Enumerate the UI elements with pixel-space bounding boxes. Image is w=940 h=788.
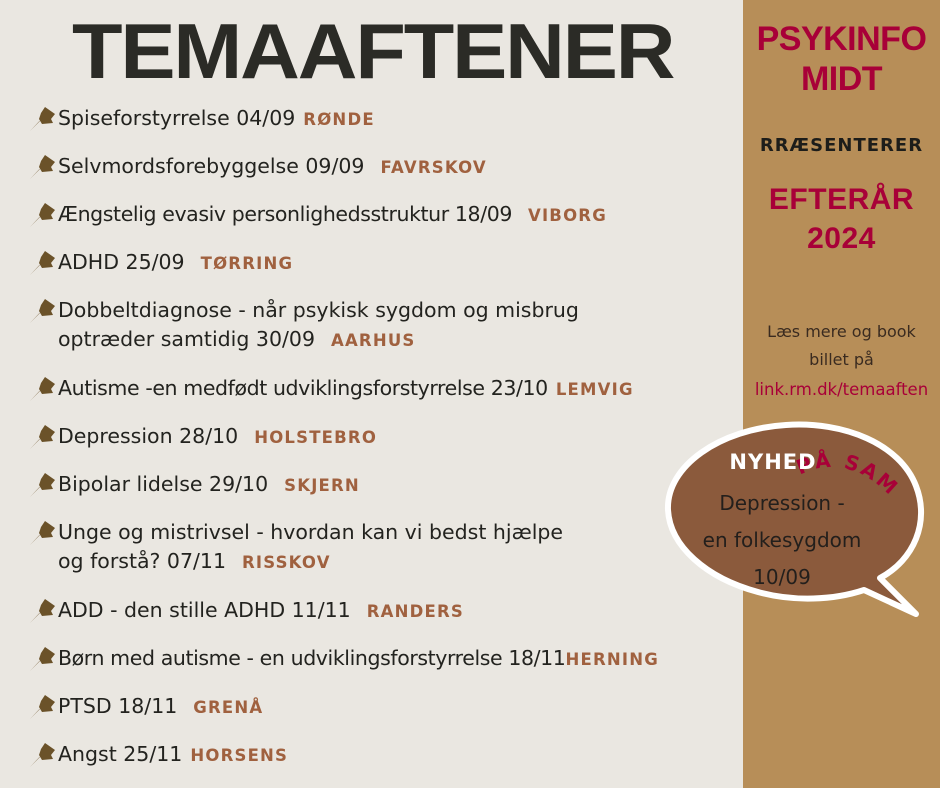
season-line-2: 2024 (743, 222, 940, 256)
event-title: Depression 28/10 (58, 424, 238, 448)
event-title: Autisme -en medfødt udviklingsforstyrrel… (58, 376, 548, 400)
event-title: Ængstelig evasiv personlighedsstruktur 1… (58, 202, 512, 226)
news-badge: NYHED (648, 450, 898, 474)
event-city: SKJERN (284, 476, 360, 495)
event-city: RISSKOV (242, 553, 331, 572)
event-title: ADD - den stille ADHD 11/11 (58, 598, 351, 622)
event-city: AARHUS (331, 331, 416, 350)
poster-root: PSYKINFO MIDT RRÆSENTERER EFTERÅR 2024 L… (0, 0, 940, 788)
brand-line-1: PSYKINFO (743, 22, 940, 56)
event-city: HOLSTEBRO (254, 428, 377, 447)
pushpin-icon (28, 424, 58, 450)
pushpin-icon (28, 250, 58, 276)
sidebar-panel: PSYKINFO MIDT RRÆSENTERER EFTERÅR 2024 L… (743, 0, 940, 788)
event-title: Dobbeltdiagnose - når psykisk sygdom og … (58, 298, 579, 322)
pushpin-icon (28, 520, 58, 546)
event-title: Børn med autisme - en udviklingsforstyrr… (58, 646, 565, 670)
event-title: Selvmordsforebyggelse 09/09 (58, 154, 364, 178)
event-city: GRENÅ (193, 698, 263, 717)
event-city: FAVRSKOV (380, 158, 486, 177)
list-item[interactable]: Selvmordsforebyggelse 09/09FAVRSKOV (28, 152, 487, 182)
event-title-line2: optræder samtidig 30/09 (58, 327, 315, 351)
event-city: TØRRING (201, 254, 294, 273)
pushpin-icon (28, 202, 58, 228)
event-title-line2: og forstå? 07/11 (58, 549, 226, 573)
list-item[interactable]: Unge og mistrivsel - hvordan kan vi beds… (28, 518, 563, 577)
pushpin-icon (28, 472, 58, 498)
pushpin-icon (28, 106, 58, 132)
list-item[interactable]: Børn med autisme - en udviklingsforstyrr… (28, 644, 659, 674)
list-item[interactable]: Spiseforstyrrelse 04/09RØNDE (28, 104, 375, 134)
event-city: HERNING (565, 650, 659, 669)
event-title: Unge og mistrivsel - hvordan kan vi beds… (58, 520, 563, 544)
list-item[interactable]: ADD - den stille ADHD 11/11RANDERS (28, 596, 464, 626)
event-title: Bipolar lidelse 29/10 (58, 472, 268, 496)
bubble-line-2: en folkesygdom (648, 528, 916, 552)
list-item[interactable]: Autisme -en medfødt udviklingsforstyrrel… (28, 374, 634, 404)
list-item[interactable]: Dobbeltdiagnose - når psykisk sygdom og … (28, 296, 579, 355)
booking-link[interactable]: link.rm.dk/temaaften (743, 380, 940, 399)
pushpin-icon (28, 742, 58, 768)
season-line-1: EFTERÅR (743, 183, 940, 217)
booking-info-line-2: billet på (749, 350, 934, 369)
pushpin-icon (28, 646, 58, 672)
pushpin-icon (28, 298, 58, 324)
list-item[interactable]: Ængstelig evasiv personlighedsstruktur 1… (28, 200, 607, 230)
presents-label: RRÆSENTERER (743, 135, 940, 156)
pushpin-icon (28, 598, 58, 624)
bubble-line-1: Depression - (648, 491, 916, 515)
event-city: LEMVIG (556, 380, 634, 399)
event-city: VIBORG (528, 206, 607, 225)
list-item[interactable]: Depression 28/10HOLSTEBRO (28, 422, 377, 452)
list-item[interactable]: Angst 25/11HORSENS (28, 740, 288, 770)
event-title: Spiseforstyrrelse 04/09 (58, 106, 295, 130)
list-item[interactable]: Bipolar lidelse 29/10SKJERN (28, 470, 360, 500)
page-title: TEMAAFTENER (72, 6, 673, 97)
list-item[interactable]: ADHD 25/09TØRRING (28, 248, 293, 278)
list-item[interactable]: PTSD 18/11GRENÅ (28, 692, 263, 722)
event-title: PTSD 18/11 (58, 694, 177, 718)
news-speech-bubble[interactable]: PÅ SAMSØ NYHED Depression - en folkesygd… (648, 418, 940, 643)
event-city: RØNDE (303, 110, 375, 129)
event-city: RANDERS (367, 602, 464, 621)
brand-line-2: MIDT (743, 62, 940, 96)
pushpin-icon (28, 154, 58, 180)
event-title: Angst 25/11 (58, 742, 182, 766)
bubble-line-3: 10/09 (648, 565, 916, 589)
event-city: HORSENS (190, 746, 288, 765)
pushpin-icon (28, 376, 58, 402)
booking-info-line-1: Læs mere og book (749, 322, 934, 341)
event-title: ADHD 25/09 (58, 250, 185, 274)
pushpin-icon (28, 694, 58, 720)
